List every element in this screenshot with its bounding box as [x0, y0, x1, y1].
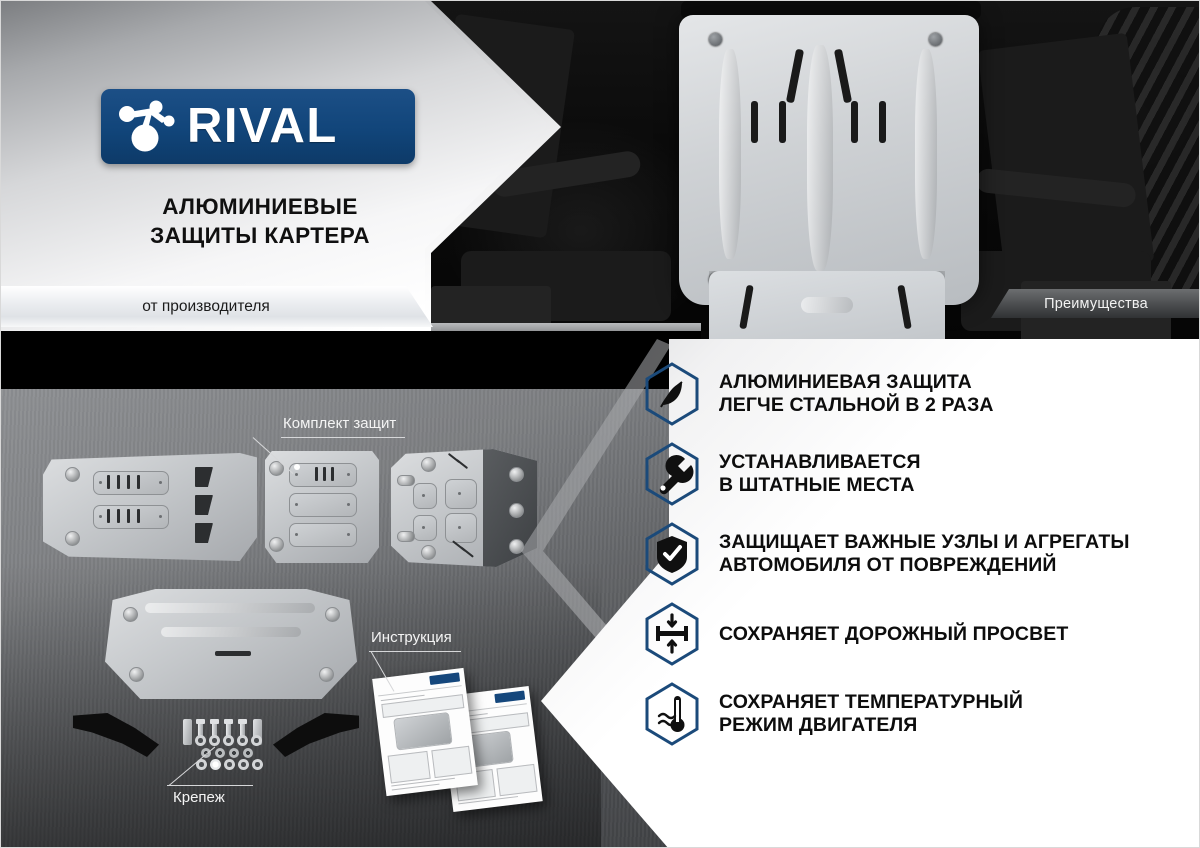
callout-hardware-underline [167, 785, 253, 786]
feature-item-temperature: СОХРАНЯЕТ ТЕМПЕРАТУРНЫЙ РЕЖИМ ДВИГАТЕЛЯ [641, 679, 1186, 749]
callout-instruction-underline [369, 651, 461, 652]
black-divider-band [1, 331, 701, 393]
feature-install-line-1: УСТАНАВЛИВАЕТСЯ [719, 451, 921, 474]
leaf-icon [641, 359, 703, 429]
skid-plate-bottom [105, 589, 357, 699]
skid-plate-left [43, 453, 257, 561]
feature-item-clearance: СОХРАНЯЕТ ДОРОЖНЫЙ ПРОСВЕТ [641, 599, 1186, 669]
feature-protection-line-2: АВТОМОБИЛЯ ОТ ПОВРЕЖДЕНИЙ [719, 554, 1130, 577]
advantages-tab: Преимущества [991, 289, 1200, 318]
feature-text-weight: АЛЮМИНИЕВАЯ ЗАЩИТА ЛЕГЧЕ СТАЛЬНОЙ В 2 РА… [719, 371, 994, 417]
skid-plate-middle [265, 451, 379, 563]
feature-temperature-line-2: РЕЖИМ ДВИГАТЕЛЯ [719, 714, 1023, 737]
advantages-tab-label: Преимущества [1044, 296, 1148, 312]
callout-kit-label: Комплект защит [283, 415, 396, 432]
feature-text-protection: ЗАЩИЩАЕТ ВАЖНЫЕ УЗЛЫ И АГРЕГАТЫ АВТОМОБИ… [719, 531, 1130, 577]
feature-item-weight: АЛЮМИНИЕВАЯ ЗАЩИТА ЛЕГЧЕ СТАЛЬНОЙ В 2 РА… [641, 359, 1186, 429]
callout-hardware-label: Крепеж [173, 789, 225, 806]
feature-item-protection: ЗАЩИЩАЕТ ВАЖНЫЕ УЗЛЫ И АГРЕГАТЫ АВТОМОБИ… [641, 519, 1186, 589]
page-title-line-2: ЗАЩИТЫ КАРТЕРА [97, 222, 423, 251]
wrench-icon [641, 439, 703, 509]
shield-check-icon [641, 519, 703, 589]
feature-text-clearance: СОХРАНЯЕТ ДОРОЖНЫЙ ПРОСВЕТ [719, 623, 1068, 646]
callout-kit-dot [294, 464, 300, 470]
feature-install-line-2: В ШТАТНЫЕ МЕСТА [719, 474, 921, 497]
molecule-icon [111, 96, 185, 158]
feature-text-install: УСТАНАВЛИВАЕТСЯ В ШТАТНЫЕ МЕСТА [719, 451, 921, 497]
skid-plate-right [391, 449, 537, 567]
instruction-sheet-front [372, 668, 478, 796]
page-title-line-1: АЛЮМИНИЕВЫЕ [97, 193, 423, 222]
chassis-arm-right [978, 33, 1155, 280]
poster-canvas: Преимущества [0, 0, 1200, 848]
callout-kit-underline [281, 437, 405, 438]
feature-protection-line-1: ЗАЩИЩАЕТ ВАЖНЫЕ УЗЛЫ И АГРЕГАТЫ [719, 531, 1130, 554]
feature-clearance-line-1: СОХРАНЯЕТ ДОРОЖНЫЙ ПРОСВЕТ [719, 623, 1068, 646]
subtitle-band: от производителя [1, 286, 433, 327]
subtitle-label: от производителя [142, 298, 292, 316]
feature-weight-line-2: ЛЕГЧЕ СТАЛЬНОЙ В 2 РАЗА [719, 394, 994, 417]
thermometer-icon [641, 679, 703, 749]
callout-instruction-label: Инструкция [371, 629, 452, 646]
ground-clearance-icon [641, 599, 703, 669]
page-title: АЛЮМИНИЕВЫЕ ЗАЩИТЫ КАРТЕРА [97, 193, 423, 251]
rival-logo-badge: RIVAL [101, 89, 415, 164]
features-list: АЛЮМИНИЕВАЯ ЗАЩИТА ЛЕГЧЕ СТАЛЬНОЙ В 2 РА… [641, 359, 1186, 759]
installed-skid-plate-upper [679, 15, 979, 305]
rival-wordmark: RIVAL [187, 102, 338, 151]
feature-weight-line-1: АЛЮМИНИЕВАЯ ЗАЩИТА [719, 371, 994, 394]
feature-item-install: УСТАНАВЛИВАЕТСЯ В ШТАТНЫЕ МЕСТА [641, 439, 1186, 509]
feature-text-temperature: СОХРАНЯЕТ ТЕМПЕРАТУРНЫЙ РЕЖИМ ДВИГАТЕЛЯ [719, 691, 1023, 737]
feature-temperature-line-1: СОХРАНЯЕТ ТЕМПЕРАТУРНЫЙ [719, 691, 1023, 714]
